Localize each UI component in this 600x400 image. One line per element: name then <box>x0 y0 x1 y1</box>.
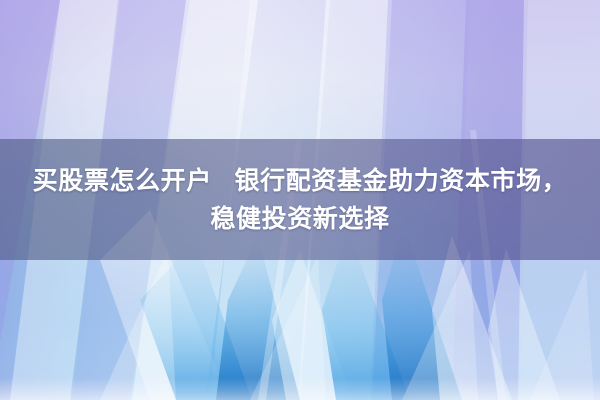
promo-banner: 买股票怎么开户 银行配资基金助力资本市场， 稳健投资新选择 <box>0 0 600 400</box>
headline-line-2: 稳健投资新选择 <box>210 200 389 238</box>
headline-overlay-band: 买股票怎么开户 银行配资基金助力资本市场， 稳健投资新选择 <box>0 139 600 260</box>
headline-line-1: 买股票怎么开户 银行配资基金助力资本市场， <box>33 162 568 200</box>
